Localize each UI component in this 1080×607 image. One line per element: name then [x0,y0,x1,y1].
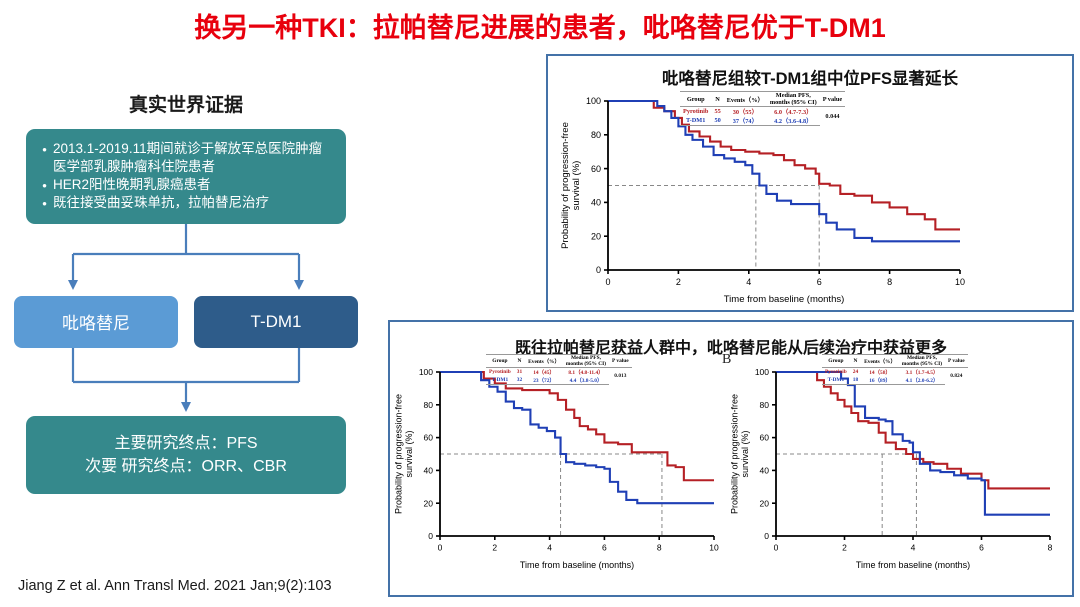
svg-text:4: 4 [547,543,552,553]
median-reference-lines [440,454,662,536]
cell-group: Pyrotinib [680,107,711,117]
svg-text:8: 8 [887,277,892,287]
svg-text:2: 2 [842,543,847,553]
col-events: Events（%） [525,355,563,368]
col-events: Events（%） [724,92,767,107]
chart-overall-pfs: 0204060801000246810Time from baseline (m… [548,89,1072,309]
svg-text:40: 40 [760,465,770,475]
svg-text:20: 20 [424,498,434,508]
col-median-pfs: Median PFS,months (95% CI) [899,355,945,368]
table-row: Pyrotinib5530（55）6.0（4.7-7.3）0.044 [680,107,845,117]
panel-overall-pfs: 吡咯替尼组较T-DM1组中位PFS显著延长 020406080100024681… [546,54,1074,312]
cell-group: T-DM1 [486,376,514,385]
cell-pvalue: 0.044 [820,107,845,126]
chart-lapatinib-nonbenefit: 02040608010002468Time from baseline (mon… [726,358,1062,575]
pfs-stat-table: GroupNEvents（%）Median PFS,months (95% CI… [486,354,632,385]
svg-text:0: 0 [764,531,769,541]
col-group: Group [822,355,850,368]
cell-events: 16（89） [861,376,899,385]
bullet-dot-icon: • [36,140,53,158]
svg-text:80: 80 [760,400,770,410]
pfs-stat-table: GroupNEvents（%）Median PFS,months (95% CI… [680,91,845,126]
svg-text:0: 0 [428,531,433,541]
criteria-text: HER2阳性晚期乳腺癌患者 [53,176,211,194]
cell-pvalue: 0.824 [945,368,968,385]
col-n: N [850,355,861,368]
col-pvalue: P value [609,355,632,368]
svg-text:80: 80 [591,130,601,140]
svg-text:Probability of progression-fre: Probability of progression-free [730,394,740,514]
criteria-text: 2013.1-2019.11期间就诊于解放军总医院肿瘤医学部乳腺肿瘤科住院患者 [53,140,332,176]
km-curve-Pyrotinib [776,372,1050,488]
svg-text:100: 100 [586,96,601,106]
cell-n: 50 [711,116,723,126]
svg-text:6: 6 [817,277,822,287]
svg-text:100: 100 [419,367,433,377]
col-median-pfs: Median PFS,months (95% CI) [767,92,820,107]
rwe-heading: 真实世界证据 [0,90,372,117]
svg-text:survival (%): survival (%) [404,430,414,477]
svg-text:0: 0 [438,543,443,553]
cell-median: 4.1（2.0-6.2） [899,376,945,385]
split-arrow-icon [26,224,346,296]
inclusion-criteria-box: • 2013.1-2019.11期间就诊于解放军总医院肿瘤医学部乳腺肿瘤科住院患… [26,129,346,224]
svg-text:10: 10 [709,543,719,553]
y-axis-label: Probability of progression-freesurvival … [560,122,582,249]
col-group: Group [680,92,711,107]
panel-lapatinib-subgroups: 既往拉帕替尼获益人群中，吡咯替尼能从后续治疗中获益更多 020406080100… [388,320,1074,597]
criteria-text: 既往接受曲妥珠单抗，拉帕替尼治疗 [53,194,269,212]
km-curve-T-DM1 [440,372,714,503]
svg-text:80: 80 [424,400,434,410]
col-events: Events（%） [861,355,899,368]
cell-events: 37（74） [724,116,767,126]
median-reference-lines [608,186,819,271]
table-row: Pyrotinib3114（45）8.1（4.8-11.4）0.013 [486,368,632,377]
criteria-bullet-1: • 2013.1-2019.11期间就诊于解放军总医院肿瘤医学部乳腺肿瘤科住院患… [36,140,332,176]
svg-text:100: 100 [755,367,769,377]
flow-split-connector [26,224,346,296]
col-median-pfs: Median PFS,months (95% CI) [563,355,609,368]
y-axis-label: Probability of progression-freesurvival … [730,394,751,514]
arm-label: T-DM1 [251,312,302,332]
svg-text:40: 40 [591,198,601,208]
median-reference-lines [776,454,916,536]
criteria-bullet-3: • 既往接受曲妥珠单抗，拉帕替尼治疗 [36,194,332,212]
panel-letter-b: B [722,352,731,368]
y-axis-label: Probability of progression-freesurvival … [394,394,415,514]
svg-text:6: 6 [602,543,607,553]
svg-text:4: 4 [746,277,751,287]
col-pvalue: P value [820,92,845,107]
svg-text:60: 60 [591,164,601,174]
cell-n: 32 [514,376,525,385]
pfs-stat-table: GroupNEvents（%）Median PFS,months (95% CI… [822,354,968,385]
cell-n: 31 [514,368,525,377]
km-curve-T-DM1 [776,372,1050,515]
svg-text:0: 0 [605,277,610,287]
cell-n: 18 [850,376,861,385]
cell-group: T-DM1 [822,376,850,385]
svg-text:Probability of progression-fre: Probability of progression-free [560,122,571,249]
real-world-evidence-flow: 真实世界证据 • 2013.1-2019.11期间就诊于解放军总医院肿瘤医学部乳… [0,90,372,494]
cell-events: 14（58） [861,368,899,377]
km-plot-lapatinib-nonbenefit-pfs: 02040608010002468Time from baseline (mon… [726,358,1062,570]
panel-title: 吡咯替尼组较T-DM1组中位PFS显著延长 [548,56,1072,89]
study-endpoints-box: 主要研究终点：PFS 次要 研究终点：ORR、CBR [26,416,346,494]
merge-arrow-icon [26,348,346,416]
bullet-dot-icon: • [36,194,53,212]
cell-median: 4.4（3.8-5.0） [563,376,609,385]
svg-text:60: 60 [424,433,434,443]
criteria-bullet-2: • HER2阳性晚期乳腺癌患者 [36,176,332,194]
chart-lapatinib-benefit: 0204060801000246810Time from baseline (m… [390,358,726,575]
cell-events: 23（72） [525,376,563,385]
svg-text:2: 2 [492,543,497,553]
col-n: N [711,92,723,107]
svg-text:20: 20 [591,231,601,241]
x-axis-label: Time from baseline (months) [856,560,970,570]
cell-pvalue: 0.013 [609,368,632,385]
treatment-arms: 吡咯替尼 T-DM1 [14,296,358,348]
cell-events: 14（45） [525,368,563,377]
cell-group: T-DM1 [680,116,711,126]
arm-label: 吡咯替尼 [62,309,130,334]
secondary-endpoint: 次要 研究终点：ORR、CBR [36,455,336,478]
x-axis-label: Time from baseline (months) [724,294,845,304]
km-plot-lapatinib-benefit-pfs: 0204060801000246810Time from baseline (m… [390,358,726,570]
svg-text:8: 8 [657,543,662,553]
svg-text:10: 10 [955,277,965,287]
cell-events: 30（55） [724,107,767,117]
svg-text:4: 4 [911,543,916,553]
cell-median: 3.1（1.7-4.5） [899,368,945,377]
svg-text:survival (%): survival (%) [571,161,582,211]
arm-pyrotinib: 吡咯替尼 [14,296,178,348]
primary-endpoint: 主要研究终点：PFS [36,432,336,455]
col-group: Group [486,355,514,368]
cell-median: 4.2（3.6-4.8） [767,116,820,126]
citation-reference: Jiang Z et al. Ann Transl Med. 2021 Jan;… [18,578,332,594]
arm-tdm1: T-DM1 [194,296,358,348]
cell-group: Pyrotinib [486,368,514,377]
cell-median: 8.1（4.8-11.4） [563,368,609,377]
table-row: Pyrotinib2414（58）3.1（1.7-4.5）0.824 [822,368,968,377]
col-n: N [514,355,525,368]
svg-text:20: 20 [760,498,770,508]
svg-text:60: 60 [760,433,770,443]
bullet-dot-icon: • [36,176,53,194]
cell-median: 6.0（4.7-7.3） [767,107,820,117]
svg-text:6: 6 [979,543,984,553]
svg-text:survival (%): survival (%) [740,430,750,477]
cell-n: 24 [850,368,861,377]
cell-group: Pyrotinib [822,368,850,377]
svg-text:2: 2 [676,277,681,287]
svg-text:Probability of progression-fre: Probability of progression-free [394,394,404,514]
cell-n: 55 [711,107,723,117]
x-axis-label: Time from baseline (months) [520,560,634,570]
svg-text:8: 8 [1048,543,1053,553]
flow-merge-connector [26,348,346,416]
col-pvalue: P value [945,355,968,368]
svg-text:0: 0 [596,265,601,275]
page-title: 换另一种TKI：拉帕替尼进展的患者，吡咯替尼优于T-DM1 [0,6,1080,45]
svg-text:40: 40 [424,465,434,475]
svg-text:0: 0 [774,543,779,553]
